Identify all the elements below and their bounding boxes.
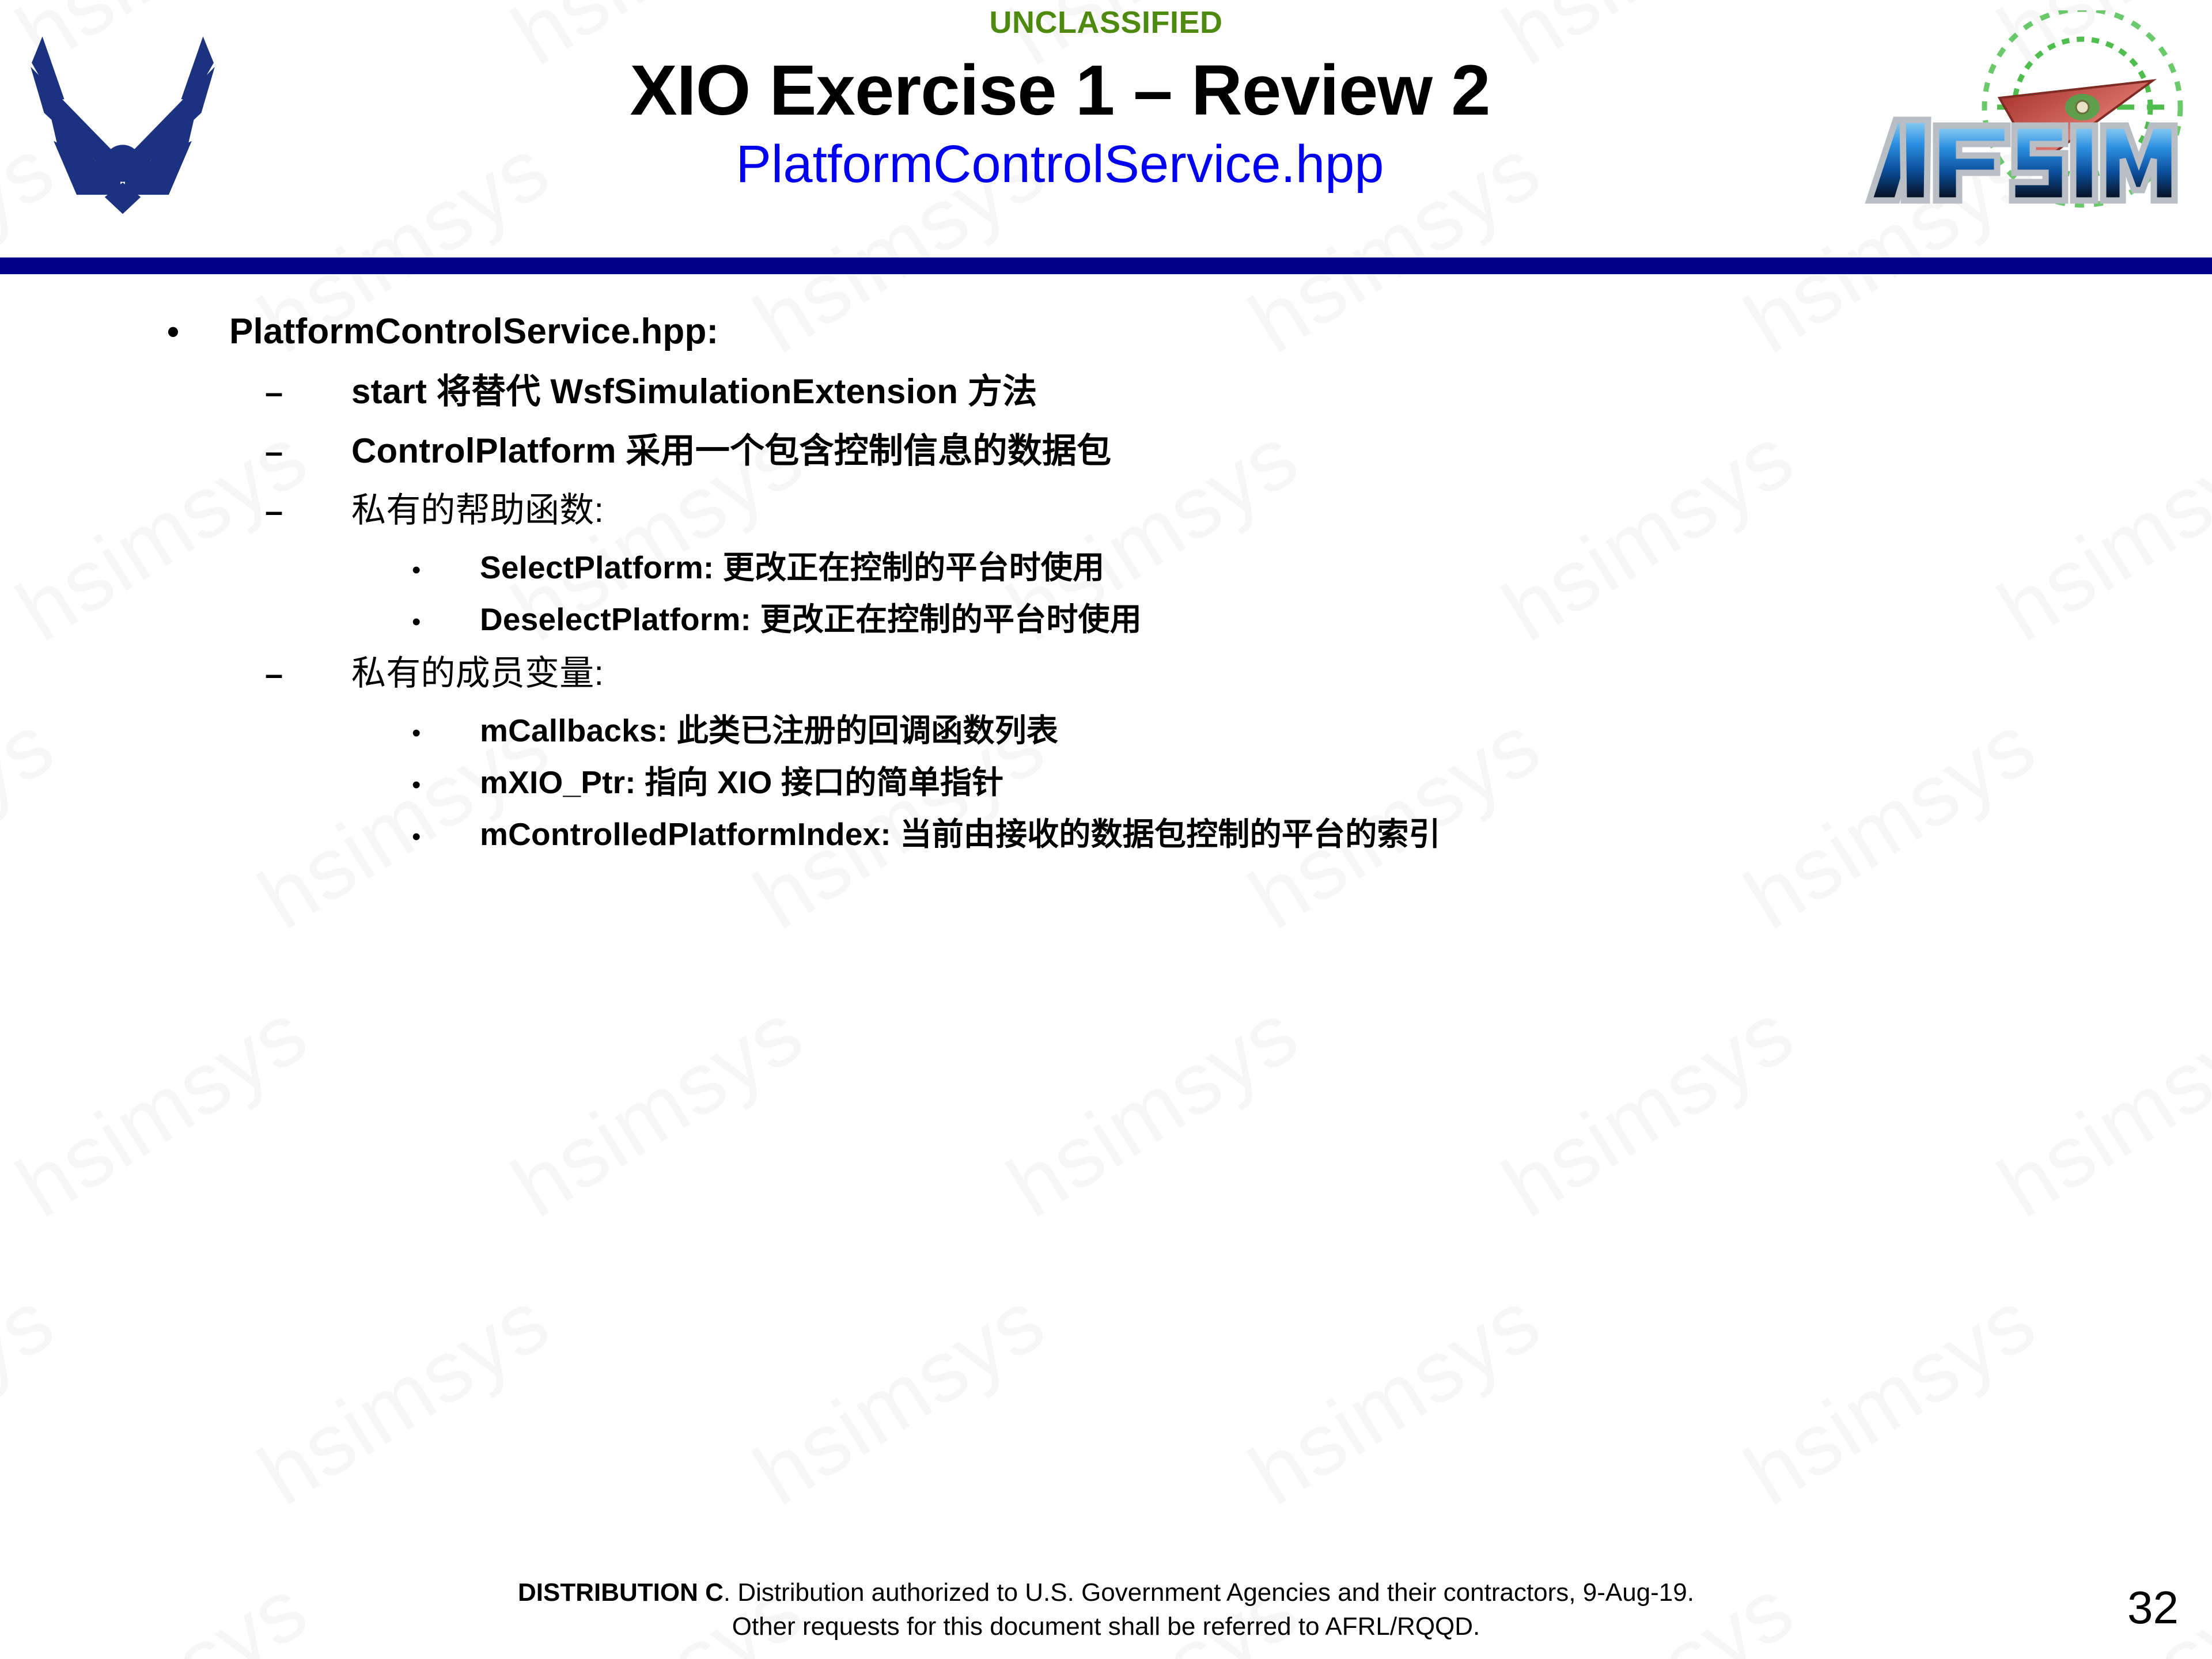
bullet-dot-icon: • [412, 721, 480, 746]
bullet-text: SelectPlatform: 更改正在控制的平台时使用 [480, 541, 2212, 588]
bullet-item-level2: –ControlPlatform 采用一个包含控制信息的数据包 [265, 423, 2212, 473]
bullet-dash-icon: – [265, 376, 351, 408]
bullet-item-level3: •DeselectPlatform: 更改正在控制的平台时使用 [412, 593, 2212, 639]
bullet-dot-icon: • [412, 609, 480, 635]
bullet-dot-icon: • [412, 824, 480, 850]
page-number: 32 [2127, 1581, 2179, 1634]
watermark-text: hsimsys [495, 983, 820, 1237]
bullet-dash-icon: – [265, 435, 351, 468]
slide-footer: DISTRIBUTION C. Distribution authorized … [0, 1575, 2212, 1644]
watermark-text: hsimsys [1982, 983, 2212, 1237]
bullet-item-level3: •mControlledPlatformIndex: 当前由接收的数据包控制的平… [412, 808, 2212, 854]
watermark-text: hsimsys [0, 1271, 71, 1525]
header-divider [0, 257, 2212, 274]
bullet-item-level3: •mXIO_Ptr: 指向 XIO 接口的简单指针 [412, 756, 2212, 802]
watermark-text: hsimsys [991, 983, 1315, 1237]
watermark-text: hsimsys [242, 1271, 566, 1525]
bullet-text: DeselectPlatform: 更改正在控制的平台时使用 [480, 593, 2212, 639]
bullet-text: ControlPlatform 采用一个包含控制信息的数据包 [351, 423, 2212, 473]
bullet-dash-icon: – [265, 658, 351, 690]
watermark-text: hsimsys [0, 983, 324, 1237]
bullet-item-level3: •SelectPlatform: 更改正在控制的平台时使用 [412, 541, 2212, 588]
watermark-text: hsimsys [1486, 983, 1810, 1237]
watermark-text: hsimsys [1233, 1271, 1557, 1525]
slide-header: UNCLASSIFIED XIO Exercise 1 – Review 2 P… [0, 0, 2212, 259]
distribution-statement-line1: DISTRIBUTION C. Distribution authorized … [0, 1575, 2212, 1609]
afsim-logo [1835, 10, 2209, 241]
watermark-text: hsimsys [737, 1271, 1062, 1525]
distribution-statement-line2: Other requests for this document shall b… [0, 1609, 2212, 1643]
bullet-item-level3: •mCallbacks: 此类已注册的回调函数列表 [412, 704, 2212, 751]
bullet-dash-icon: – [265, 495, 351, 527]
bullet-text: PlatformControlService.hpp: [229, 311, 2212, 352]
title-block: XIO Exercise 1 – Review 2 PlatformContro… [346, 53, 1774, 192]
bullet-item-level2: –私有的成员变量: [265, 645, 2212, 695]
slide-body-content: •PlatformControlService.hpp:–start 将替代 W… [0, 311, 2212, 860]
bullet-text: 私有的帮助函数: [351, 482, 2212, 532]
bullet-text: 私有的成员变量: [351, 645, 2212, 695]
bullet-text: mXIO_Ptr: 指向 XIO 接口的简单指针 [480, 756, 2212, 802]
bullet-dot-icon: • [167, 315, 229, 349]
air-force-wings-logo [10, 16, 235, 247]
distribution-detail: . Distribution authorized to U.S. Govern… [724, 1578, 1694, 1607]
bullet-item-level2: –start 将替代 WsfSimulationExtension 方法 [265, 363, 2212, 414]
page-subtitle: PlatformControlService.hpp [346, 137, 1774, 192]
distribution-label: DISTRIBUTION C [518, 1578, 724, 1607]
bullet-text: mCallbacks: 此类已注册的回调函数列表 [480, 704, 2212, 751]
page-title: XIO Exercise 1 – Review 2 [346, 53, 1774, 130]
bullet-text: start 将替代 WsfSimulationExtension 方法 [351, 363, 2212, 414]
bullet-item-level2: –私有的帮助函数: [265, 482, 2212, 532]
bullet-dot-icon: • [412, 772, 480, 798]
bullet-text: mControlledPlatformIndex: 当前由接收的数据包控制的平台… [480, 808, 2212, 854]
watermark-text: hsimsys [1728, 1271, 2052, 1525]
bullet-dot-icon: • [412, 558, 480, 583]
bullet-item-level1: •PlatformControlService.hpp: [167, 311, 2212, 352]
